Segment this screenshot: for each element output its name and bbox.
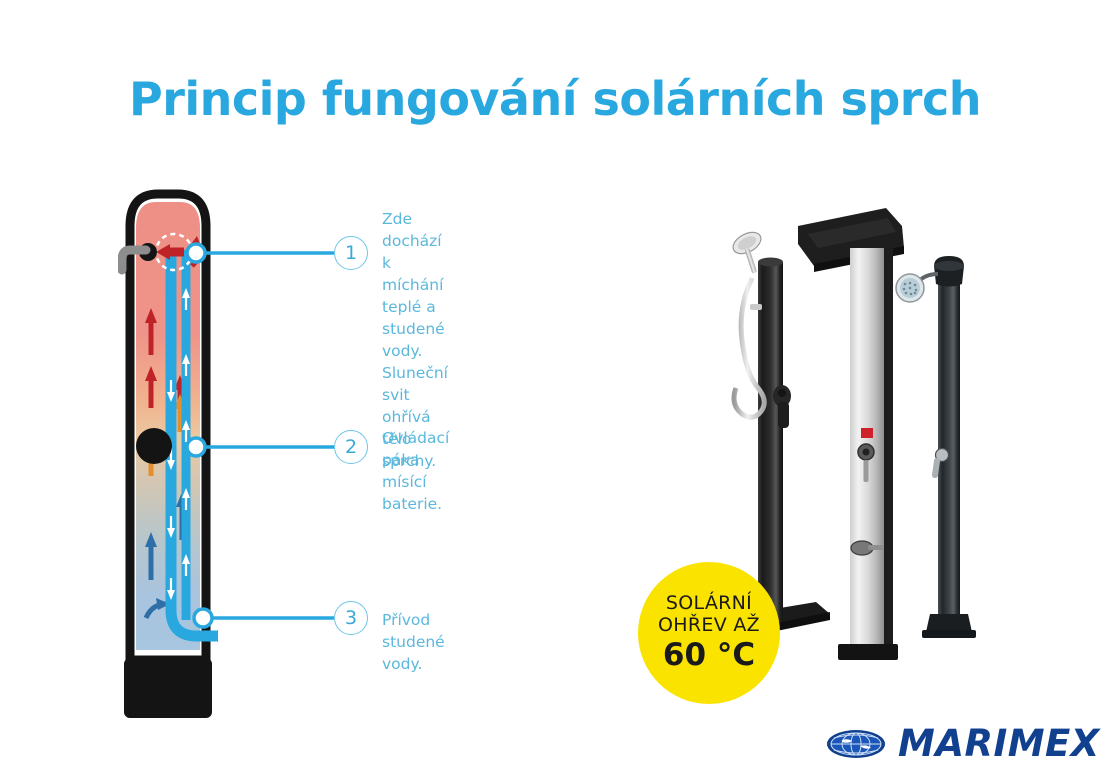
shower-cutaway-diagram [118,180,258,720]
callout-text-3: Přívod studené vody. [382,609,445,675]
product1-top-cap [758,258,783,267]
badge-line-2: OHŘEV AŽ [658,615,760,636]
product3-top-cap [934,256,964,287]
solar-heating-badge: SOLÁRNÍ OHŘEV AŽ 60 °C [638,562,780,704]
logo-wordmark: MARIMEX [898,722,1100,765]
infographic-canvas: Princip fungování solárních sprch [0,0,1110,780]
product2-valve-lever [864,460,869,482]
product-dark-round-shower [896,256,976,638]
shower-base [124,658,212,718]
product3-base-plate [926,614,972,632]
product-silver-square-shower [798,208,904,660]
callout-number-1: 1 [334,236,368,270]
product1-valve-body [778,402,789,428]
product3-top-cap-rim [934,261,964,271]
product2-column-side [884,248,893,648]
product2-valve-center [863,449,870,456]
product2-base-plate [838,644,898,660]
product2-foot-shower-spout [868,545,884,550]
product3-base-foot [922,630,976,638]
badge-line-1: SOLÁRNÍ [666,593,752,614]
product1-column [758,262,783,622]
callout-number-2: 2 [334,430,368,464]
product2-red-label [861,428,873,438]
product1-valve-center [778,389,786,397]
callout-number-3: 3 [334,601,368,635]
marimex-logo: MARIMEX [826,722,1100,765]
callout-text-2: Ovládací páka mísící baterie. [382,427,449,515]
page-title: Princip fungování solárních sprch [0,72,1110,126]
globe-icon [826,728,886,760]
mixing-lever-ball [136,428,172,464]
product1-hose-bracket [750,304,762,310]
badge-temperature: 60 °C [663,638,755,673]
